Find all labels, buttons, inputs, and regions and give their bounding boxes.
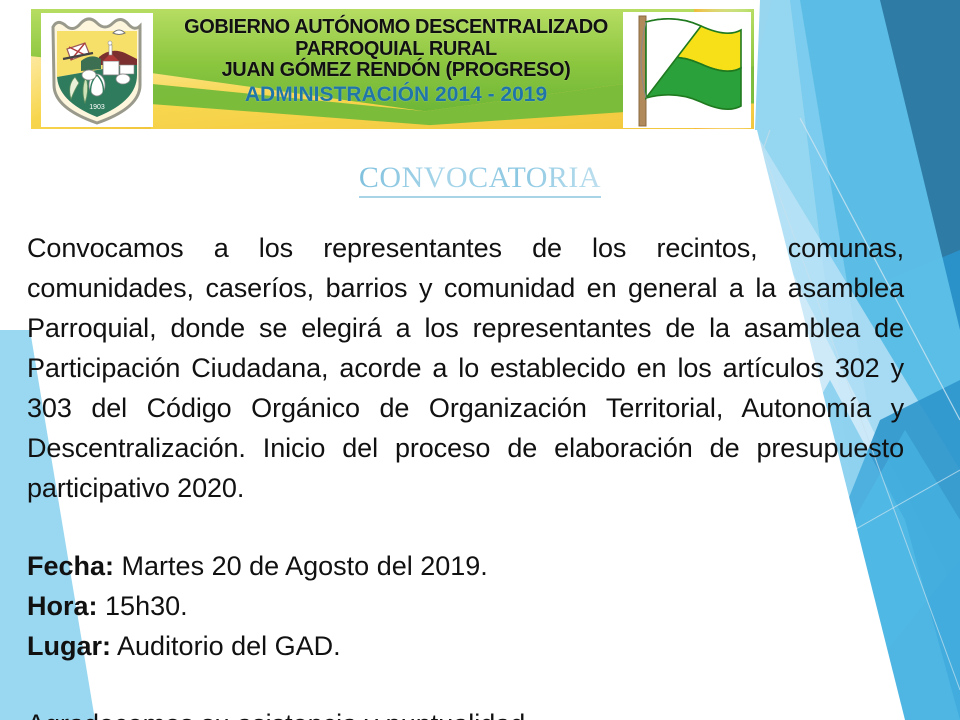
banner-line-2: PARROQUIAL RURAL (161, 39, 631, 61)
slide-canvas: 1903 GOBIERNO AUTÓNOMO DESCENTRALIZADO P… (0, 0, 960, 720)
detail-row-hora: Hora: 15h30. (27, 586, 904, 626)
banner-line-1: GOBIERNO AUTÓNOMO DESCENTRALIZADO (161, 17, 631, 39)
detail-value-hora: 15h30. (105, 591, 188, 621)
announcement-body: Convocamos a los representantes de los r… (27, 228, 904, 720)
detail-label-fecha: Fecha: (27, 551, 114, 581)
announcement-paragraph: Convocamos a los representantes de los r… (27, 228, 904, 508)
flag-pole (639, 16, 646, 126)
administration-years: 2014 - 2019 (435, 83, 547, 106)
body-spacer (27, 508, 904, 546)
banner-administration-line: ADMINISTRACIÓN 2014 - 2019 (161, 84, 631, 107)
detail-label-hora: Hora: (27, 591, 98, 621)
svg-text:1903: 1903 (89, 104, 105, 111)
detail-value-lugar: Auditorio del GAD. (117, 631, 341, 661)
gad-header-banner: 1903 GOBIERNO AUTÓNOMO DESCENTRALIZADO P… (30, 8, 755, 130)
detail-row-lugar: Lugar: Auditorio del GAD. (27, 626, 904, 666)
detail-row-fecha: Fecha: Martes 20 de Agosto del 2019. (27, 546, 904, 586)
banner-line-3: JUAN GÓMEZ RENDÓN (PROGRESO) (161, 60, 631, 82)
page-title-text: CONVOCATORIA (359, 161, 601, 198)
closing-spacer (27, 666, 904, 704)
administration-label: ADMINISTRACIÓN (245, 83, 429, 106)
detail-label-lugar: Lugar: (27, 631, 111, 661)
page-title: CONVOCATORIA (0, 161, 960, 198)
coat-of-arms-shield: 1903 (41, 13, 153, 127)
parish-flag (623, 12, 751, 128)
banner-title-block: GOBIERNO AUTÓNOMO DESCENTRALIZADO PARROQ… (161, 17, 631, 106)
closing-line: Agradecemos su asistencia y puntualidad. (27, 704, 904, 720)
detail-value-fecha: Martes 20 de Agosto del 2019. (122, 551, 488, 581)
